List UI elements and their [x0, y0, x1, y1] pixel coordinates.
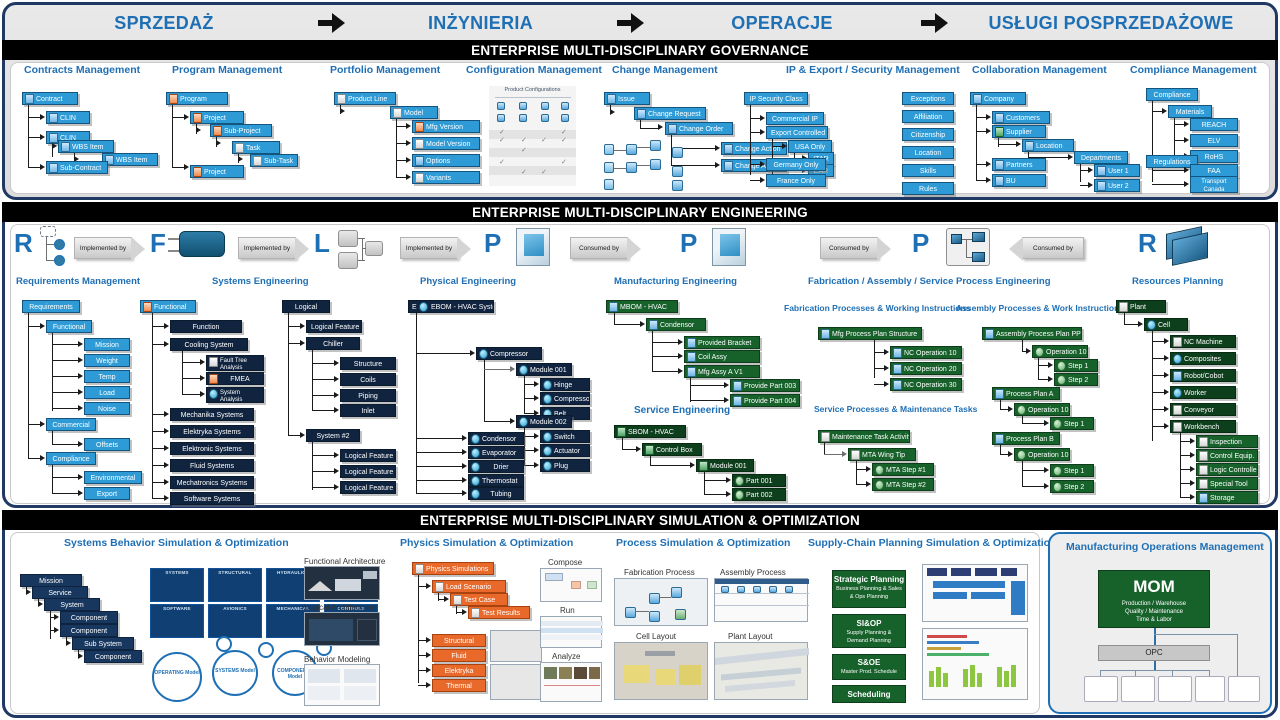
node-inspection[interactable]: Inspection [1196, 435, 1258, 448]
node-citizenship[interactable]: Citizenship [902, 128, 954, 141]
node-program[interactable]: Program [166, 92, 228, 105]
node-thermal[interactable]: Thermal [432, 679, 486, 692]
node-structural[interactable]: Structural [432, 634, 486, 647]
node-fluid-systems[interactable]: Fluid Systems [170, 459, 254, 472]
arrow-icon [1088, 167, 1093, 173]
arrow-icon [426, 583, 431, 589]
node-worker[interactable]: Worker [1170, 386, 1236, 399]
arrow-icon [426, 682, 431, 688]
node-ip-security-class[interactable]: IP Security Class [744, 92, 808, 105]
node-system-analysis[interactable]: System Analysis [206, 387, 264, 403]
arrow-icon [1190, 466, 1195, 472]
company-icon [973, 94, 982, 104]
node-component-1[interactable]: Component [60, 611, 118, 624]
node-wbs-item-1[interactable]: WBS Item [58, 140, 114, 153]
arrow-icon [1068, 154, 1073, 160]
node-ebom-hvac-system[interactable]: E EBOM - HVAC System [408, 300, 494, 313]
nc-operation-icon [893, 348, 902, 358]
customers-icon [995, 113, 1004, 123]
node-mfg-assy-a-v1[interactable]: Mfg Assy A V1 [684, 365, 760, 378]
node-change-action-1[interactable]: Change Action [721, 142, 787, 155]
shot-analyze[interactable] [540, 662, 602, 702]
node-control-equipment[interactable]: Control Equip. [1196, 449, 1258, 462]
node-circle-small [258, 642, 274, 658]
stage-uslugi[interactable]: USŁUGI POSPRZEDAŻOWE [951, 13, 1271, 34]
shot-assembly-process[interactable] [714, 578, 808, 622]
arrow-icon [78, 441, 83, 447]
node-logical-feature-2[interactable]: Logical Feature [340, 449, 396, 462]
arrow-icon [658, 124, 663, 130]
node-req-export[interactable]: Export [84, 487, 130, 500]
arrow-icon [690, 462, 695, 468]
arrow-icon [1016, 141, 1021, 147]
node-mta-step-1[interactable]: MTA Step #1 [872, 463, 934, 476]
node-logical-feature-4[interactable]: Logical Feature [340, 481, 396, 494]
node-change-order[interactable]: Change Order [665, 122, 733, 135]
circle-operating-model[interactable]: OPERATING Model [152, 652, 202, 702]
node-nc-operation-20[interactable]: NC Operation 20 [890, 362, 962, 375]
node-project-2[interactable]: Project [190, 165, 244, 178]
heading-fabrication-processes: Fabrication Processes & Working Instruct… [784, 303, 970, 313]
nc-operation-icon [893, 380, 902, 390]
node-assembly-process-plan-ppi[interactable]: Assembly Process Plan PPI [982, 327, 1082, 340]
node-location[interactable]: Location [902, 146, 954, 159]
node-req-weight[interactable]: Weight [84, 354, 130, 367]
change-request-icon [637, 109, 646, 119]
mfg-cube-icon [712, 228, 746, 266]
node-mbom-hvac[interactable]: MBOM - HVAC [606, 300, 678, 313]
heading-mom: Manufacturing Operations Management [1066, 541, 1264, 553]
node-req-temp[interactable]: Temp [84, 370, 130, 383]
node-nc-machine[interactable]: NC Machine [1170, 335, 1236, 348]
arrow-icon [534, 462, 539, 468]
user-icon [1097, 166, 1106, 176]
node-cooling-system[interactable]: Cooling System [170, 338, 248, 351]
arrow-icon [334, 468, 339, 474]
node-elektryka[interactable]: Elektryka [432, 664, 486, 677]
shot-plant-layout[interactable] [714, 642, 808, 700]
node-task[interactable]: Task [232, 141, 280, 154]
node-mta-step-2[interactable]: MTA Step #2 [872, 478, 934, 491]
change-action-icon [724, 144, 733, 154]
node-process-plan-b[interactable]: Process Plan B [992, 432, 1060, 445]
node-module-001[interactable]: Module 001 [516, 363, 572, 376]
arrow-icon [510, 366, 515, 372]
shot-structural-fea[interactable] [490, 630, 542, 662]
arrow-icon [78, 373, 83, 379]
step-icon [1053, 466, 1062, 476]
caption-physical-engineering: Physical Engineering [420, 276, 516, 287]
node-exceptions[interactable]: Exceptions [902, 92, 954, 105]
arrow-icon [334, 452, 339, 458]
arrow-icon [40, 323, 45, 329]
node-plant[interactable]: Plant [1116, 300, 1166, 313]
node-module-001-service[interactable]: Module 001 [696, 459, 754, 472]
arrow-icon [40, 114, 45, 120]
change-order-icon [668, 124, 677, 134]
arrow-icon [534, 447, 539, 453]
circle-systems-model[interactable]: SYSTEMS Model [212, 650, 258, 696]
node-req-functional[interactable]: Functional [46, 320, 92, 333]
hvac-icon [419, 302, 428, 312]
node-nc-operation-30[interactable]: NC Operation 30 [890, 378, 962, 391]
arrow-icon [1138, 321, 1143, 327]
device-machine-icon[interactable] [1084, 676, 1118, 702]
node-req-noise[interactable]: Noise [84, 402, 130, 415]
node-logical-feature-1[interactable]: Logical Feature [306, 320, 362, 333]
arrow-icon [1164, 355, 1169, 361]
arrow-icon [164, 323, 169, 329]
node-condensor[interactable]: Condensor [468, 432, 524, 445]
version-icon [415, 122, 424, 132]
arrow-icon [406, 123, 411, 129]
box-soe[interactable]: S&OE Master Prod. Schedule [832, 654, 906, 680]
rflp-letter-l: L [314, 228, 330, 259]
node-composites[interactable]: Composites [1170, 352, 1236, 365]
arrow-icon [1164, 338, 1169, 344]
node-actuator[interactable]: Actuator [540, 444, 590, 457]
node-conveyor[interactable]: Conveyor [1170, 403, 1236, 416]
node-req-commercial[interactable]: Commercial [46, 418, 96, 431]
arrow-icon [238, 156, 243, 162]
node-req-environmental[interactable]: Environmental [84, 471, 142, 484]
box-siop[interactable]: SI&OP Supply Planning & Demand Planning [832, 614, 906, 648]
node-logical-feature-3[interactable]: Logical Feature [340, 465, 396, 478]
arrow-icon [164, 462, 169, 468]
part-icon [471, 476, 480, 486]
arrow-icon [866, 466, 871, 472]
play-icon [415, 564, 424, 574]
stage-sprzedaz[interactable]: SPRZEDAŻ [14, 13, 314, 34]
connector [172, 105, 173, 167]
tile-structural[interactable]: STRUCTURAL [208, 568, 262, 602]
heading-process-simulation: Process Simulation & Optimization [616, 537, 790, 549]
shot-compose[interactable] [540, 568, 602, 602]
node-customers[interactable]: Customers [992, 111, 1050, 124]
operation-icon [1035, 347, 1044, 357]
shot-supply-chain-flow[interactable] [922, 564, 1028, 622]
maintenance-icon [821, 432, 830, 442]
node-change-request[interactable]: Change Request [634, 107, 706, 120]
node-model-version[interactable]: Model Version [412, 137, 480, 150]
node-storage[interactable]: Storage [1196, 491, 1258, 504]
shot-run[interactable] [540, 616, 602, 648]
node-thermostat[interactable]: Thermostat [468, 474, 524, 487]
node-contract[interactable]: Contract [22, 92, 78, 105]
composites-icon [1173, 354, 1182, 364]
node-physics-simulations[interactable]: Physics Simulations [412, 562, 494, 575]
arrow-icon [66, 640, 71, 646]
node-options[interactable]: Options [412, 154, 480, 167]
node-rules[interactable]: Rules [902, 182, 954, 195]
node-special-tool[interactable]: Special Tool [1196, 477, 1258, 490]
node-sub-system[interactable]: Sub System [72, 637, 134, 650]
node-user-1[interactable]: User 1 [1094, 164, 1140, 177]
product-configurations-matrix[interactable]: Product Configurations ✓✓ ✓✓ ✓✓ ✓ ✓✓ ✓✓ [489, 86, 576, 186]
arrow-icon [715, 162, 720, 168]
shot-logical-architecture[interactable] [304, 612, 380, 646]
connector-implemented-by-2: Implemented by [238, 237, 296, 259]
node-step-2-a[interactable]: Step 2 [1054, 373, 1098, 386]
inspection-icon [1199, 437, 1208, 447]
node-switch[interactable]: Switch [540, 430, 590, 443]
node-coil-assy[interactable]: Coil Assy [684, 350, 760, 363]
node-elv[interactable]: ELV [1190, 134, 1238, 147]
node-fmea[interactable]: FMEA [206, 372, 264, 385]
arrow-icon [1190, 494, 1195, 500]
arrow-icon [1088, 182, 1093, 188]
node-operation-10-c[interactable]: Operation 10 [1014, 448, 1070, 461]
node-provide-part-003[interactable]: Provide Part 003 [730, 379, 800, 392]
node-req-mission[interactable]: Mission [84, 338, 130, 351]
node-step-1-a[interactable]: Step 1 [1054, 359, 1098, 372]
arrow-icon [300, 432, 305, 438]
node-sub-task[interactable]: Sub-Task [250, 154, 298, 167]
node-wbs-item-2[interactable]: WBS Item [102, 153, 158, 166]
shot-behavior-modeling[interactable] [304, 664, 380, 706]
node-req-offsets[interactable]: Offsets [84, 438, 130, 451]
conveyor-icon [1173, 405, 1182, 415]
shot-thermal-fea[interactable] [490, 664, 546, 700]
connector-consumed-by-1: Consumed by [570, 237, 628, 259]
heading-ip-export-security: IP & Export / Security Management [786, 64, 960, 76]
node-export-controlled[interactable]: Export Controlled [766, 126, 828, 139]
node-cell[interactable]: Cell [1144, 318, 1188, 331]
node-functional-root[interactable]: Functional [140, 300, 196, 313]
node-step-1-b[interactable]: Step 1 [1050, 417, 1094, 430]
mom-box[interactable]: MOM Production / Warehouse Quality / Mai… [1098, 570, 1210, 628]
connector-implemented-by-3: Implemented by [400, 237, 458, 259]
node-sbom-hvac[interactable]: SBOM - HVAC [614, 425, 686, 438]
node-mfg-process-plan-structure[interactable]: Mfg Process Plan Structure [818, 327, 922, 340]
node-compressor-root[interactable]: Compressor [476, 347, 542, 360]
node-test-case[interactable]: Test Case [450, 593, 508, 606]
arrow-icon [866, 481, 871, 487]
node-part-001[interactable]: Part 001 [732, 474, 786, 487]
node-workbench[interactable]: Workbench [1170, 420, 1236, 433]
node-mfg-version[interactable]: Mfg Version [412, 120, 480, 133]
node-mechatronics-systems[interactable]: Mechatronics Systems [170, 476, 254, 489]
stage-operacje[interactable]: OPERACJE [647, 13, 917, 34]
node-maintenance-task-activity[interactable]: Maintenance Task Activity [818, 430, 910, 443]
node-product-line[interactable]: Product Line [334, 92, 396, 105]
node-sub-project[interactable]: Sub-Project [210, 124, 272, 137]
arrow-icon [678, 368, 683, 374]
node-fault-tree-analysis[interactable]: Fault Tree Analysis [206, 355, 264, 371]
node-inlet[interactable]: Inlet [340, 404, 396, 417]
node-elektryka-systems[interactable]: Elektryka Systems [170, 425, 254, 438]
node-compressor-part[interactable]: Compressor [540, 392, 590, 405]
workbench-icon [1173, 422, 1182, 432]
arrow-icon [1044, 483, 1049, 489]
rflp-letter-r2: R [1138, 228, 1157, 259]
node-bu[interactable]: BU [992, 174, 1046, 187]
connector-consumed-by-3: Consumed by [1022, 237, 1084, 259]
node-affiliation[interactable]: Affiliation [902, 110, 954, 123]
process-plan-icon [821, 329, 830, 339]
node-plug[interactable]: Plug [540, 459, 590, 472]
node-mechanika-systems[interactable]: Mechanika Systems [170, 408, 254, 421]
device-robot-icon[interactable] [1121, 676, 1155, 702]
device-conveyor-icon[interactable] [1158, 676, 1192, 702]
arrow-icon [164, 411, 169, 417]
arrow-icon [40, 134, 45, 140]
box-strategic-planning[interactable]: Strategic Planning Business Planning & S… [832, 570, 906, 608]
tile-software[interactable]: SOFTWARE [150, 604, 204, 638]
project-icon [193, 167, 202, 177]
node-model[interactable]: Model [390, 106, 438, 119]
arrow-icon [78, 490, 83, 496]
heading-systems-behavior: Systems Behavior Simulation & Optimizati… [64, 537, 289, 549]
node-part-002[interactable]: Part 002 [732, 488, 786, 501]
caption-systems-engineering: Systems Engineering [212, 276, 309, 287]
control-box-icon [645, 445, 654, 455]
node-req-load[interactable]: Load [84, 386, 130, 399]
arrow-icon [636, 446, 641, 452]
task-icon [253, 156, 262, 166]
tile-systems[interactable]: SYSTEMS [150, 568, 204, 602]
node-sub-contract[interactable]: Sub-Contract [46, 161, 108, 174]
step-icon [1057, 375, 1066, 385]
node-commercial-ip[interactable]: Commercial IP [766, 112, 824, 125]
shot-cell-layout[interactable] [614, 642, 708, 700]
node-hinge[interactable]: Hinge [540, 378, 590, 391]
node-provided-bracket[interactable]: Provided Bracket [684, 336, 760, 349]
label-functional-architecture: Functional Architecture [304, 557, 385, 566]
node-operation-10-b[interactable]: Operation 10 [1014, 403, 1070, 416]
assembly-plan-icon [985, 329, 994, 339]
node-transport-canada[interactable]: Transport Canada [1190, 176, 1238, 193]
contract-icon [25, 94, 34, 104]
node-fluid[interactable]: Fluid [432, 649, 486, 662]
node-step-1-c[interactable]: Step 1 [1050, 464, 1094, 477]
part-icon [471, 434, 480, 444]
node-coils[interactable]: Coils [340, 373, 396, 386]
node-test-results[interactable]: Test Results [468, 606, 530, 619]
node-drier[interactable]: Drier [468, 460, 524, 473]
node-condensor-mbom[interactable]: Condensor [646, 318, 706, 331]
supplier-icon [995, 127, 1004, 137]
shot-gantt-schedule[interactable] [922, 628, 1028, 700]
node-elektronic-systems[interactable]: Elektronic Systems [170, 442, 254, 455]
node-compliance[interactable]: Compliance [1146, 88, 1198, 101]
tile-avionics[interactable]: AVIONICS [208, 604, 262, 638]
opc-box[interactable]: OPC [1098, 645, 1210, 661]
arrow-icon [1162, 108, 1167, 114]
node-process-plan-a[interactable]: Process Plan A [992, 387, 1060, 400]
node-variants[interactable]: Variants [412, 171, 480, 184]
node-location[interactable]: Location [1022, 139, 1074, 152]
device-line-icon[interactable] [1228, 676, 1260, 702]
node-nc-operation-10[interactable]: NC Operation 10 [890, 346, 962, 359]
node-departments[interactable]: Departments [1074, 151, 1128, 164]
node-company[interactable]: Company [970, 92, 1026, 105]
clin-icon [49, 113, 58, 123]
node-structure[interactable]: Structure [340, 357, 396, 370]
arrow-icon [678, 339, 683, 345]
part-icon [735, 476, 744, 486]
node-req-compliance[interactable]: Compliance [46, 452, 96, 465]
node-piping[interactable]: Piping [340, 389, 396, 402]
node-skills[interactable]: Skills [902, 164, 954, 177]
part-icon [543, 432, 552, 442]
arrow-icon [54, 614, 59, 620]
node-software-systems[interactable]: Software Systems [170, 492, 254, 505]
stage-inzynieria[interactable]: INŻYNIERIA [348, 13, 613, 34]
node-user-2[interactable]: User 2 [1094, 179, 1140, 192]
arrow-icon [200, 359, 205, 365]
device-workers-icon[interactable] [1195, 676, 1225, 702]
test-results-icon [471, 608, 480, 618]
node-evaporator[interactable]: Evaporator [468, 446, 524, 459]
nc-operation-icon [893, 364, 902, 374]
bu-icon [995, 176, 1004, 186]
node-mta-wing-tip[interactable]: MTA Wing Tip [848, 448, 916, 461]
part-icon [543, 461, 552, 471]
arrow-icon [1048, 362, 1053, 368]
node-control-box[interactable]: Control Box [642, 443, 702, 456]
node-project-1[interactable]: Project [190, 111, 244, 124]
arrow-icon [1164, 389, 1169, 395]
node-logic-controller[interactable]: Logic Controller [1196, 463, 1258, 476]
heading-contracts-management: Contracts Management [24, 64, 140, 76]
mbom-icon [609, 302, 618, 312]
node-module-002[interactable]: Module 002 [516, 415, 572, 428]
node-logical-root[interactable]: Logical [282, 300, 330, 313]
node-france-only[interactable]: France Only [766, 174, 826, 187]
node-system-2[interactable]: System #2 [306, 429, 360, 442]
node-germany-only[interactable]: Germany Only [766, 158, 826, 171]
compressor-icon [479, 349, 488, 359]
node-requirements[interactable]: Requirements [22, 300, 80, 313]
part-icon [471, 448, 480, 458]
arrow-icon [470, 350, 475, 356]
node-materials[interactable]: Materials [1168, 105, 1212, 118]
caption-fabrication-assembly-service: Fabrication / Assembly / Service Process… [808, 276, 1051, 287]
node-robot-cobot[interactable]: Robot/Cobot [1170, 369, 1236, 382]
model-icon [393, 108, 402, 118]
node-component-2[interactable]: Component [60, 624, 118, 637]
heading-service-processes: Service Processes & Maintenance Tasks [814, 404, 977, 414]
node-tubing[interactable]: Tubing [468, 487, 524, 500]
node-operation-10-a[interactable]: Operation 10 [1032, 345, 1088, 358]
shot-fabrication-process[interactable] [614, 578, 708, 626]
node-step-2-c[interactable]: Step 2 [1050, 480, 1094, 493]
node-load-scenario[interactable]: Load Scenario [432, 580, 506, 593]
node-supplier[interactable]: Supplier [992, 125, 1046, 138]
node-issue[interactable]: Issue [604, 92, 650, 105]
node-clin-1[interactable]: CLIN [46, 111, 90, 124]
arrow-icon [1184, 137, 1189, 143]
stage-arrow-icon [917, 12, 951, 34]
node-function[interactable]: Function [170, 320, 242, 333]
arrow-icon [334, 484, 339, 490]
box-scheduling[interactable]: Scheduling [832, 685, 906, 703]
arrow-icon [200, 375, 205, 381]
arrow-icon [444, 596, 449, 602]
program-icon [169, 94, 178, 104]
node-partners[interactable]: Partners [992, 158, 1046, 171]
shot-functional-architecture[interactable] [304, 566, 380, 600]
arrow-icon [678, 353, 683, 359]
part-icon [543, 380, 552, 390]
node-reach[interactable]: REACH [1190, 118, 1238, 131]
heading-portfolio-management: Portfolio Management [330, 64, 440, 76]
node-provide-part-004[interactable]: Provide Part 004 [730, 394, 800, 407]
node-component-3[interactable]: Component [84, 650, 142, 663]
node-system[interactable]: System [44, 598, 100, 611]
node-chiller[interactable]: Chiller [306, 337, 360, 350]
